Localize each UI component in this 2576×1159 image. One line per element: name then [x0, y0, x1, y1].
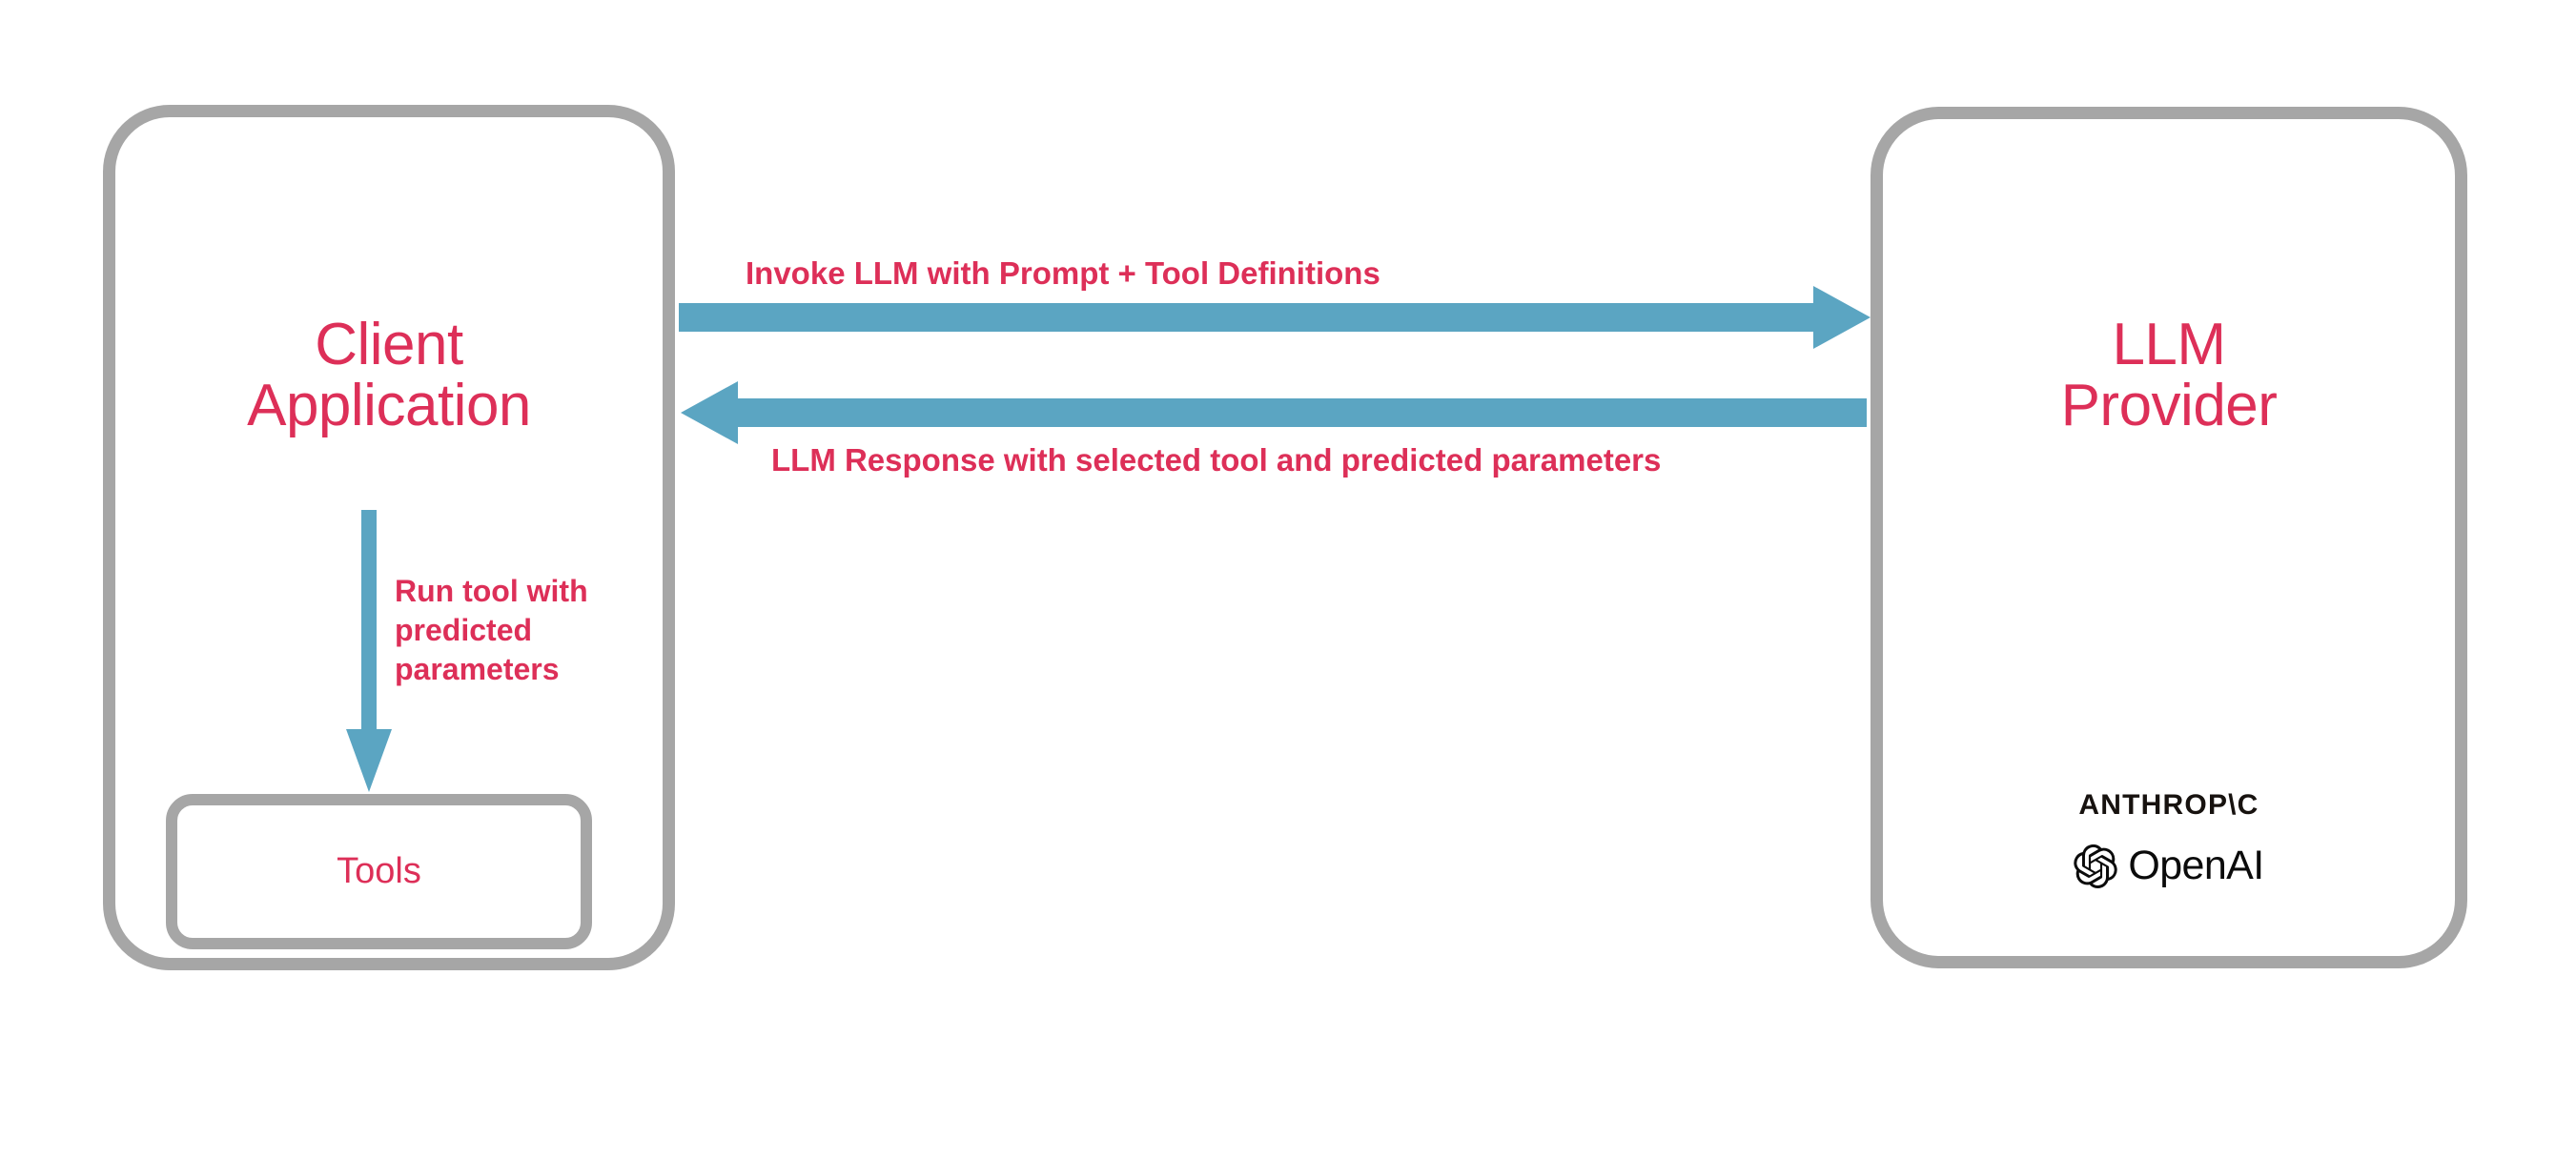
client-application-label-line2: Application	[103, 376, 675, 437]
tools-node: Tools	[166, 794, 592, 949]
client-application-label: Client Application	[103, 315, 675, 437]
provider-brand-list: ANTHROP\C OpenAI	[1871, 789, 2467, 889]
anthropic-logo: ANTHROP\C	[2078, 789, 2259, 822]
invoke-llm-arrow-icon	[679, 286, 1880, 372]
llm-response-arrow-label: LLM Response with selected tool and pred…	[771, 442, 1661, 478]
openai-logo: OpenAI	[2074, 843, 2263, 889]
invoke-llm-arrow-label: Invoke LLM with Prompt + Tool Definition…	[746, 255, 1380, 292]
tools-label: Tools	[337, 851, 421, 892]
client-application-label-line1: Client	[103, 315, 675, 376]
openai-wordmark: OpenAI	[2128, 843, 2263, 889]
run-tool-arrow-label: Run tool with predicted parameters	[395, 572, 671, 689]
llm-provider-label-line1: LLM	[1871, 315, 2467, 376]
diagram-canvas: Client Application Tools LLM Provider In…	[0, 0, 2576, 1159]
llm-provider-label-line2: Provider	[1871, 376, 2467, 437]
llm-provider-label: LLM Provider	[1871, 315, 2467, 437]
openai-mark-icon	[2074, 844, 2117, 888]
